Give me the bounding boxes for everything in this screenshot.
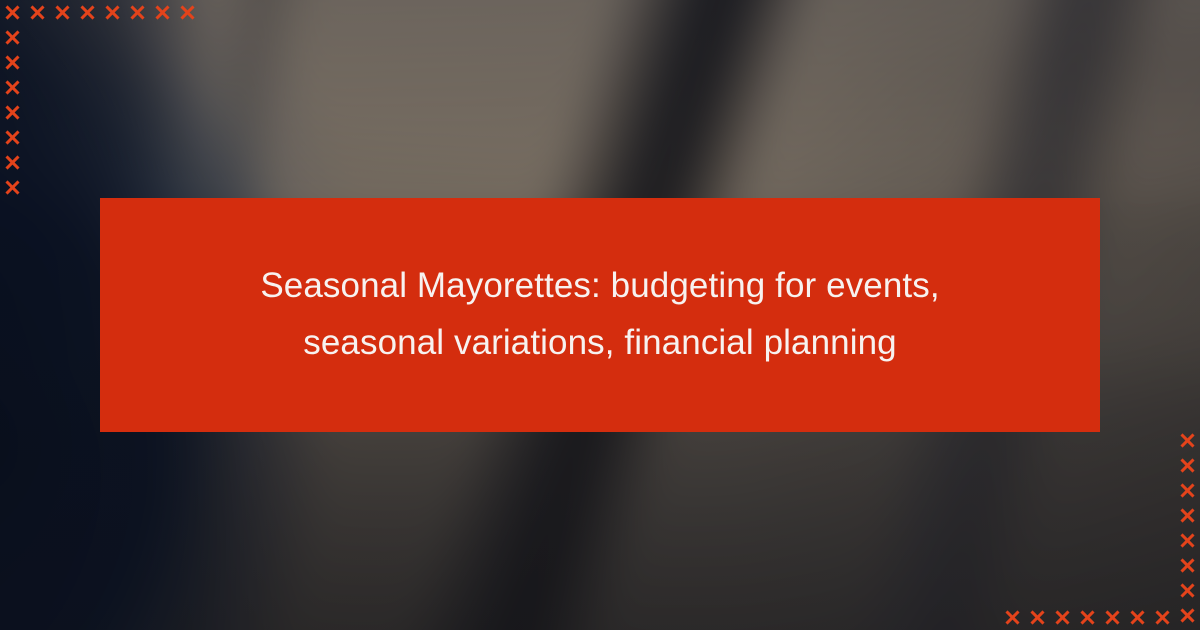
title-banner: Seasonal Mayorettes: budgeting for event… [100, 198, 1100, 432]
page-title: Seasonal Mayorettes: budgeting for event… [220, 258, 980, 371]
share-card-canvas: Seasonal Mayorettes: budgeting for event… [0, 0, 1200, 630]
